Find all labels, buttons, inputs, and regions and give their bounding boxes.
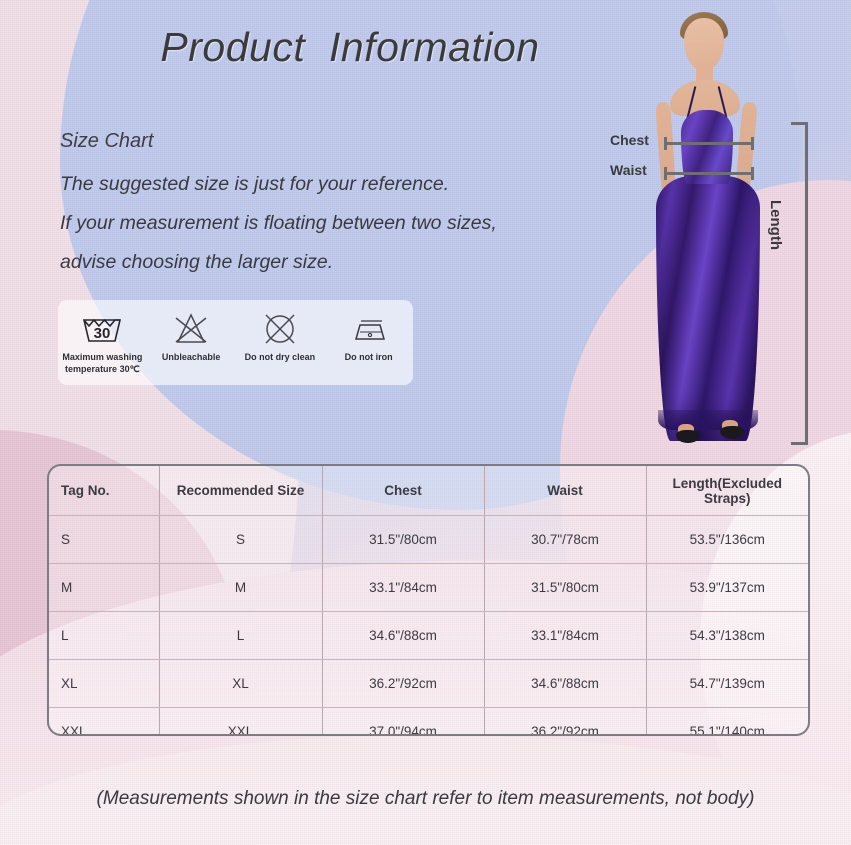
svg-text:30: 30 xyxy=(94,325,111,342)
cell-length: 54.7"/139cm xyxy=(646,660,808,708)
model-head xyxy=(684,18,724,70)
size-chart-heading: Size Chart xyxy=(60,130,153,153)
cell-length: 53.5"/136cm xyxy=(646,516,808,564)
cell-waist: 31.5"/80cm xyxy=(484,564,646,612)
care-item-wash: 30 Maximum washing temperature 30℃ xyxy=(58,309,147,375)
length-measure-cap-bottom xyxy=(791,442,808,445)
size-table-element: Tag No. Recommended Size Chest Waist Len… xyxy=(49,466,808,736)
description-line: The suggested size is just for your refe… xyxy=(60,165,620,204)
cell-chest: 34.6"/88cm xyxy=(322,612,484,660)
cell-tag: L xyxy=(49,612,159,660)
column-header-waist: Waist xyxy=(484,466,646,516)
table-row: S S 31.5"/80cm 30.7"/78cm 53.5"/136cm xyxy=(49,516,808,564)
column-header-recommended-size: Recommended Size xyxy=(159,466,322,516)
cell-waist: 34.6"/88cm xyxy=(484,660,646,708)
table-row: M M 33.1"/84cm 31.5"/80cm 53.9"/137cm xyxy=(49,564,808,612)
cell-length: 53.9"/137cm xyxy=(646,564,808,612)
cell-recommended: XXL xyxy=(159,708,322,737)
cell-length: 54.3"/138cm xyxy=(646,612,808,660)
care-item-bleach: Unbleachable xyxy=(147,309,236,363)
cell-chest: 33.1"/84cm xyxy=(322,564,484,612)
size-chart-description: The suggested size is just for your refe… xyxy=(60,165,620,282)
column-header-chest: Chest xyxy=(322,466,484,516)
chest-measure-label: Chest xyxy=(610,132,649,148)
care-label-bleach: Unbleachable xyxy=(162,351,221,363)
table-row: XL XL 36.2"/92cm 34.6"/88cm 54.7"/139cm xyxy=(49,660,808,708)
dress-hem xyxy=(658,410,758,430)
cell-tag: XL xyxy=(49,660,159,708)
waist-measure-line xyxy=(664,172,754,175)
footer-note: (Measurements shown in the size chart re… xyxy=(0,788,851,810)
dress-skirt xyxy=(656,176,760,441)
cell-recommended: S xyxy=(159,516,322,564)
care-label-dry-clean: Do not dry clean xyxy=(245,351,316,363)
cell-waist: 36.2"/92cm xyxy=(484,708,646,737)
cell-waist: 30.7"/78cm xyxy=(484,516,646,564)
cell-tag: M xyxy=(49,564,159,612)
model-left-shoe xyxy=(676,430,700,443)
length-measure-label: Length xyxy=(767,200,784,250)
column-header-length: Length(Excluded Straps) xyxy=(646,466,808,516)
do-not-dry-clean-icon xyxy=(261,309,299,349)
do-not-bleach-icon xyxy=(171,309,211,349)
column-header-tag-no: Tag No. xyxy=(49,466,159,516)
do-not-iron-icon xyxy=(348,309,390,349)
size-chart-table: Tag No. Recommended Size Chest Waist Len… xyxy=(47,464,810,736)
table-row: L L 34.6"/88cm 33.1"/84cm 54.3"/138cm xyxy=(49,612,808,660)
care-label-iron: Do not iron xyxy=(345,351,393,363)
product-information-page: Product Information Size Chart The sugge… xyxy=(0,0,851,845)
description-line: advise choosing the larger size. xyxy=(60,243,620,282)
cell-chest: 37.0"/94cm xyxy=(322,708,484,737)
chest-measure-cap-right xyxy=(751,137,754,150)
table-row: XXL XXL 37.0"/94cm 36.2"/92cm 55.1"/140c… xyxy=(49,708,808,737)
cell-tag: XXL xyxy=(49,708,159,737)
care-item-dry-clean: Do not dry clean xyxy=(236,309,325,363)
description-line: If your measurement is floating between … xyxy=(60,204,620,243)
wash-tub-30-icon: 30 xyxy=(80,309,124,349)
waist-measure-cap-right xyxy=(751,167,754,180)
care-item-iron: Do not iron xyxy=(324,309,413,363)
waist-measure-label: Waist xyxy=(610,162,647,178)
chest-measure-cap-left xyxy=(664,137,667,150)
cell-recommended: XL xyxy=(159,660,322,708)
waist-measure-cap-left xyxy=(664,167,667,180)
care-instructions-panel: 30 Maximum washing temperature 30℃ Unble… xyxy=(58,300,413,385)
cell-chest: 31.5"/80cm xyxy=(322,516,484,564)
page-title: Product Information xyxy=(0,24,700,71)
cell-tag: S xyxy=(49,516,159,564)
cell-recommended: L xyxy=(159,612,322,660)
cell-recommended: M xyxy=(159,564,322,612)
chest-measure-line xyxy=(664,142,754,145)
cell-waist: 33.1"/84cm xyxy=(484,612,646,660)
cell-chest: 36.2"/92cm xyxy=(322,660,484,708)
length-measure-line xyxy=(805,122,808,445)
care-label-wash: Maximum washing temperature 30℃ xyxy=(62,351,142,375)
table-header-row: Tag No. Recommended Size Chest Waist Len… xyxy=(49,466,808,516)
cell-length: 55.1"/140cm xyxy=(646,708,808,737)
